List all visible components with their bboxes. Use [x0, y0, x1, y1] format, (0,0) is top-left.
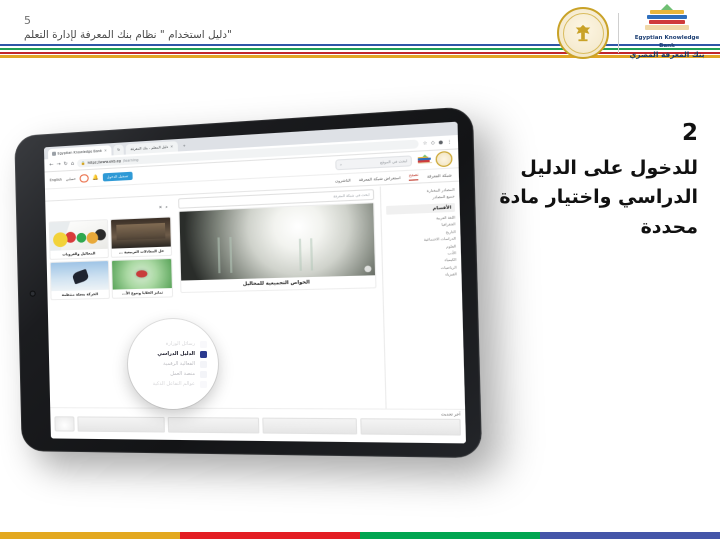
digital-activity-icon	[200, 361, 207, 368]
menu-item-label: منصة العمل	[170, 371, 195, 377]
menu-item-label: الفعالية الرقمية	[163, 361, 195, 367]
menu-item-work-platform[interactable]: منصة العمل	[139, 371, 207, 378]
page-number: 5	[24, 14, 31, 27]
account-link[interactable]: حسابي	[66, 177, 76, 182]
logo-divider	[618, 13, 619, 53]
tab-label: Egyptian Knowledge Bank	[57, 149, 102, 156]
menu-item-smart-worlds[interactable]: عوالم التفاعل الذكية	[139, 381, 207, 388]
card-title: تمايز الخلايا وتنوع الأ...	[113, 288, 172, 298]
eagle-glyph	[572, 23, 594, 43]
menu-item-digital-activity[interactable]: الفعالية الرقمية	[139, 361, 207, 368]
cards-row-2: تمايز الخلايا وتنوع الأ... الحركة بعجلة …	[50, 258, 173, 300]
slide-caption: 2 للدخول على الدليل الدراسي واختيار مادة…	[468, 122, 698, 242]
list-item[interactable]: الحركة بعجلة منتظمة	[50, 260, 110, 300]
menu-item-label: الدليل الدراسي	[157, 351, 195, 357]
bookmark-star-icon[interactable]: ☆	[423, 141, 428, 147]
tablet-device-frame: Egyptian Knowledge Bank ✕ ↻ دليل المعلم …	[14, 106, 482, 458]
sidebar-section-heading: الأقسام	[386, 202, 455, 214]
forward-arrow-icon[interactable]: →	[56, 162, 60, 167]
ekb-logo-en: Egyptian Knowledge Bank	[635, 35, 700, 49]
update-card[interactable]	[262, 418, 358, 435]
caption-text: للدخول على الدليل الدراسي واختيار مادة م…	[468, 154, 698, 242]
footer-bar-red	[180, 532, 360, 539]
header-title: "دليل استخدام " نظام بنك المعرفة لإدارة …	[24, 29, 232, 41]
tablet-mockup: Egyptian Knowledge Bank ✕ ↻ دليل المعلم …	[10, 128, 450, 463]
egypt-eagle-emblem-icon	[435, 151, 452, 167]
ministry-message-icon	[200, 341, 207, 348]
ekb-logo-icon	[416, 154, 432, 167]
update-card-rounded[interactable]	[54, 416, 74, 431]
smart-worlds-icon	[200, 381, 207, 388]
menu-kebab-icon[interactable]: ⋮	[447, 139, 452, 145]
extensions-icon[interactable]: ◇	[431, 140, 435, 146]
slide-header: 5 "دليل استخدام " نظام بنك المعرفة لإدار…	[0, 0, 720, 66]
footer-bar-gold	[0, 532, 180, 539]
reload-icon[interactable]: ↻	[113, 144, 124, 155]
nav-item-publishers[interactable]: الناشرون	[335, 178, 351, 183]
tab-favicon	[52, 152, 56, 156]
tablet-screen: Egyptian Knowledge Bank ✕ ↻ دليل المعلم …	[44, 122, 466, 444]
home-icon[interactable]: ⌂	[71, 161, 74, 166]
egypt-eagle-emblem-icon	[557, 7, 609, 59]
tab-label: دليل المعلم - بنك المعرفة	[130, 145, 168, 151]
caption-number: 2	[468, 122, 698, 145]
tab-close-icon[interactable]: ✕	[170, 145, 173, 149]
nav-item-browse[interactable]: تصفح	[409, 173, 419, 181]
tablet-camera-icon	[31, 291, 35, 295]
menu-item-ministry-messages[interactable]: رسائل الوزارة	[139, 341, 207, 348]
site-top-bar-left: تسجيل الدخول 🔔 حسابي English	[50, 171, 133, 184]
tab-close-icon[interactable]: ✕	[104, 149, 107, 153]
url-domain: https://www.ekb.eg	[88, 159, 121, 165]
list-item[interactable]: حل المعادلات التربيعية ...	[110, 216, 172, 258]
sidebar-filters: المصادر المختارة جميع المصادر الأقسام ال…	[380, 183, 466, 444]
nav-item-explore-network[interactable]: استعراض شبكة المعرفة	[359, 175, 401, 181]
profile-icon[interactable]: ●	[438, 140, 443, 146]
ekb-logo-text: Egyptian Knowledge Bank بنك المعرفة المص…	[628, 35, 706, 60]
dropdown-menu[interactable]: رسائل الوزارة الدليل الدراسي الفعالية ال…	[129, 320, 217, 408]
presentation-slide: 5 "دليل استخدام " نظام بنك المعرفة لإدار…	[0, 0, 720, 539]
stacked-books-icon	[643, 6, 691, 32]
site-search-placeholder: ابحث في الموقع	[380, 159, 407, 165]
footer-bar-green	[360, 532, 540, 539]
skydiver-sky-image	[51, 261, 109, 291]
list-item[interactable]: تمايز الخلايا وتنوع الأ...	[111, 258, 173, 299]
lab-flasks-colored-image	[50, 220, 108, 251]
latest-updates-section: آخر تحديث	[50, 407, 466, 443]
magnifier-callout: رسائل الوزارة الدليل الدراسي الفعالية ال…	[128, 319, 218, 409]
latest-updates-cards	[54, 416, 461, 435]
reload-icon[interactable]: ↻	[64, 162, 68, 167]
search-icon[interactable]: ⌕	[340, 162, 342, 166]
cell-biology-image	[112, 259, 172, 290]
update-card[interactable]	[361, 418, 461, 435]
featured-card[interactable]: الخواص التجميعية للمحاليل	[178, 202, 376, 293]
update-card[interactable]	[167, 417, 258, 434]
back-arrow-icon[interactable]: ←	[49, 162, 53, 167]
ekb-logo: Egyptian Knowledge Bank بنك المعرفة المص…	[628, 6, 706, 60]
menu-item-label: عوالم التفاعل الذكية	[153, 381, 195, 387]
clear-x-icon[interactable]: ✕	[159, 204, 163, 209]
chemistry-smoke-experiment-image	[179, 203, 375, 280]
footer-color-bars	[0, 532, 720, 539]
classroom-board-image	[111, 217, 171, 248]
user-avatar-icon[interactable]	[80, 174, 89, 183]
update-card[interactable]	[77, 416, 164, 432]
play-badge-icon[interactable]	[364, 266, 371, 273]
site-logos[interactable]	[416, 151, 452, 168]
content-search-placeholder: ابحث في شبكة المعرفة	[333, 193, 369, 199]
site-body: المصادر المختارة جميع المصادر الأقسام ال…	[45, 183, 466, 444]
card-title: الحركة بعجلة منتظمة	[51, 290, 108, 300]
login-button[interactable]: تسجيل الدخول	[103, 172, 133, 181]
new-tab-button[interactable]: +	[179, 140, 189, 151]
list-item[interactable]: المحاليل والغرويات	[49, 219, 109, 260]
site-search-input[interactable]: ابحث في الموقع ⌕	[335, 155, 412, 170]
language-toggle[interactable]: English	[50, 178, 62, 183]
work-platform-icon	[200, 371, 207, 378]
sidebar-item-physics[interactable]: الفيزياء	[388, 271, 457, 280]
search-icon[interactable]: ⌕	[165, 204, 167, 209]
ekb-logo-ar: بنك المعرفة المصري	[628, 50, 706, 60]
menu-item-study-guide[interactable]: الدليل الدراسي	[139, 351, 207, 358]
study-guide-icon	[200, 351, 207, 358]
menu-item-label: رسائل الوزارة	[166, 341, 195, 347]
footer-bar-blue	[540, 532, 720, 539]
bell-icon[interactable]: 🔔	[92, 175, 98, 181]
nav-item-knowledge-network[interactable]: شبكة المعرفة	[427, 173, 452, 179]
grid-search-row: ⌕ ✕	[51, 201, 168, 217]
cards-row-1: حل المعادلات التربيعية ... المحاليل والغ…	[49, 216, 172, 260]
lock-icon: 🔒	[81, 161, 86, 165]
header-logos: Egyptian Knowledge Bank بنك المعرفة المص…	[557, 6, 706, 60]
url-path: /learning	[123, 158, 139, 163]
